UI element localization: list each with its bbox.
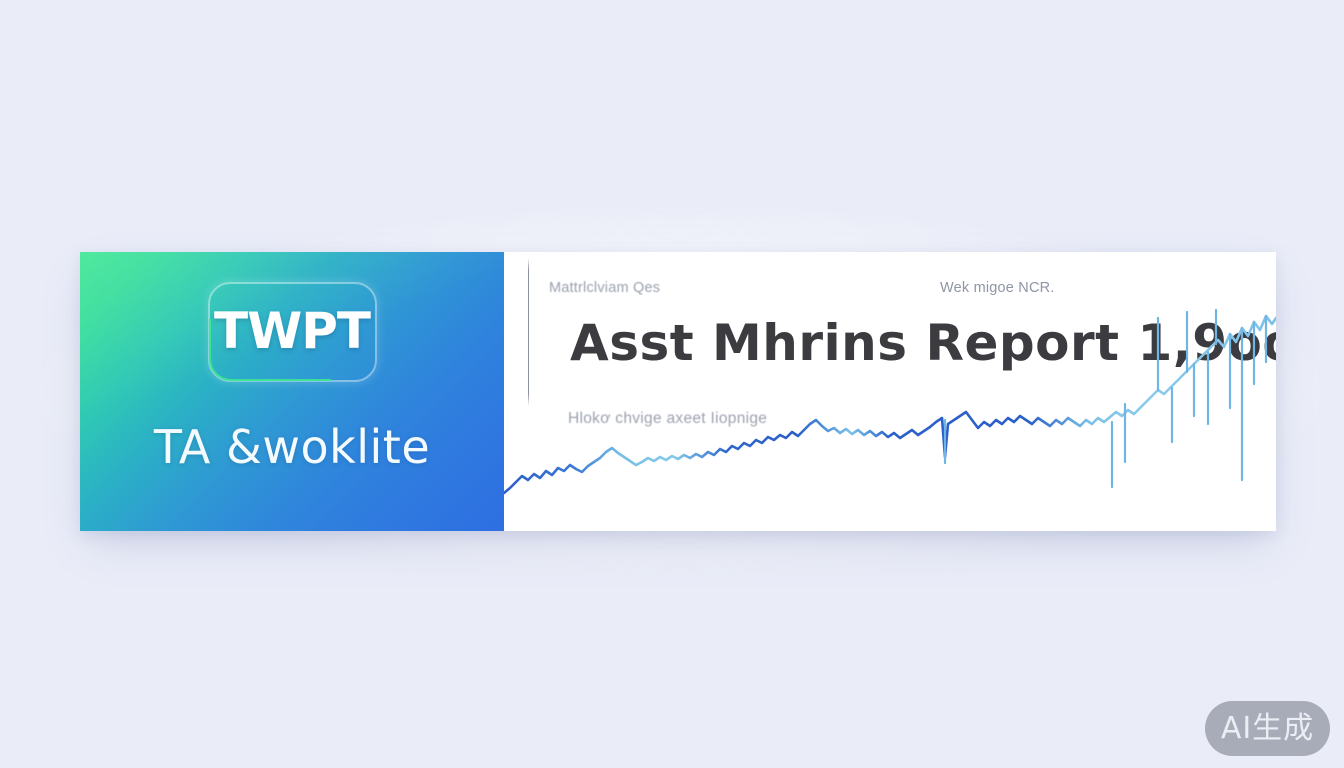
logo-frame-icon: TWPT bbox=[208, 282, 377, 382]
brand-tagline: TA &woklite bbox=[80, 420, 504, 474]
report-title: Asst Mhrins Report 1,9ooor. bbox=[570, 314, 1276, 372]
eyebrow-label-left: Mattrlclviam Qes bbox=[549, 280, 660, 296]
ai-generated-watermark: AI生成 bbox=[1205, 701, 1330, 756]
vertical-divider bbox=[528, 258, 529, 406]
eyebrow-label-right: Wek migoe NCR. bbox=[940, 280, 1055, 296]
content-panel: Mattrlclviam Qes Wek migoe NCR. Asst Mhr… bbox=[504, 252, 1276, 531]
logo-wordmark: TWPT bbox=[214, 306, 370, 356]
brand-panel: TWPT TA &woklite bbox=[80, 252, 504, 531]
ai-generated-watermark-label: AI生成 bbox=[1221, 714, 1314, 744]
report-banner-card: TWPT TA &woklite Mattrlclviam Qes Wek mi… bbox=[80, 252, 1276, 531]
logo-container: TWPT bbox=[80, 282, 504, 382]
report-subtitle: Hlokơ chvige axeet Iiopnige bbox=[568, 410, 767, 428]
